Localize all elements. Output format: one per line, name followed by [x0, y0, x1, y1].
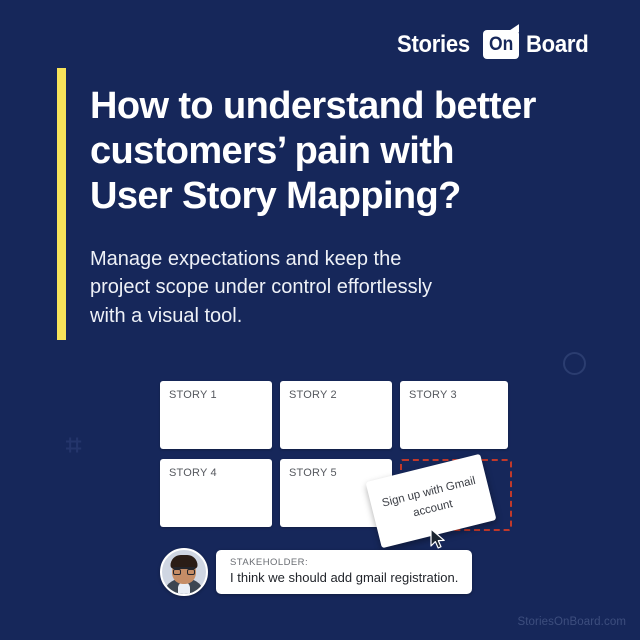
comment-author-role: STAKEHOLDER:	[230, 557, 458, 568]
logo-mark-text: On	[489, 35, 513, 54]
subhead-line-1: Manage expectations and keep the	[90, 245, 535, 273]
story-card-label: STORY 2	[289, 389, 337, 401]
accent-bar	[57, 68, 66, 340]
circle-decoration-icon	[563, 352, 586, 375]
headline-line-3: User Story Mapping?	[90, 174, 610, 219]
logo-document-icon: On	[483, 30, 519, 59]
story-card[interactable]: STORY 1	[160, 381, 272, 449]
story-card[interactable]: STORY 3	[400, 381, 508, 449]
story-card[interactable]: STORY 2	[280, 381, 392, 449]
comment-message: I think we should add gmail registration…	[230, 570, 458, 586]
footer-website[interactable]: StoriesOnBoard.com	[517, 616, 626, 628]
avatar-glasses-icon	[173, 567, 195, 575]
subhead-line-3: with a visual tool.	[90, 302, 535, 330]
headline-line-2: customers’ pain with	[90, 129, 610, 174]
story-card-label: STORY 5	[289, 467, 337, 479]
hash-decoration-icon: ⌗	[66, 432, 92, 458]
stakeholder-comment: STAKEHOLDER: I think we should add gmail…	[160, 548, 472, 596]
page-title: How to understand better customers’ pain…	[90, 84, 610, 218]
logo-word-board: Board	[526, 31, 588, 59]
story-card-label: STORY 4	[169, 467, 217, 479]
dragged-card-line-2: account	[412, 498, 454, 519]
subhead-line-2: project scope under control effortlessly	[90, 273, 535, 301]
avatar[interactable]	[160, 548, 208, 596]
story-card-label: STORY 1	[169, 389, 217, 401]
logo-word-stories: Stories	[397, 31, 470, 59]
poster-canvas: Stories On Board How to understand bette…	[0, 0, 640, 640]
story-card-label: STORY 3	[409, 389, 457, 401]
dragged-card-text: Sign up with Gmail account	[380, 473, 481, 530]
headline-line-1: How to understand better	[90, 84, 610, 129]
story-card[interactable]: STORY 4	[160, 459, 272, 527]
comment-bubble[interactable]: STAKEHOLDER: I think we should add gmail…	[216, 550, 472, 594]
avatar-shirt-shape	[178, 582, 190, 596]
page-subtitle: Manage expectations and keep the project…	[90, 245, 535, 330]
brand-logo[interactable]: Stories On Board	[397, 30, 594, 59]
page-fold-shape	[507, 24, 519, 32]
